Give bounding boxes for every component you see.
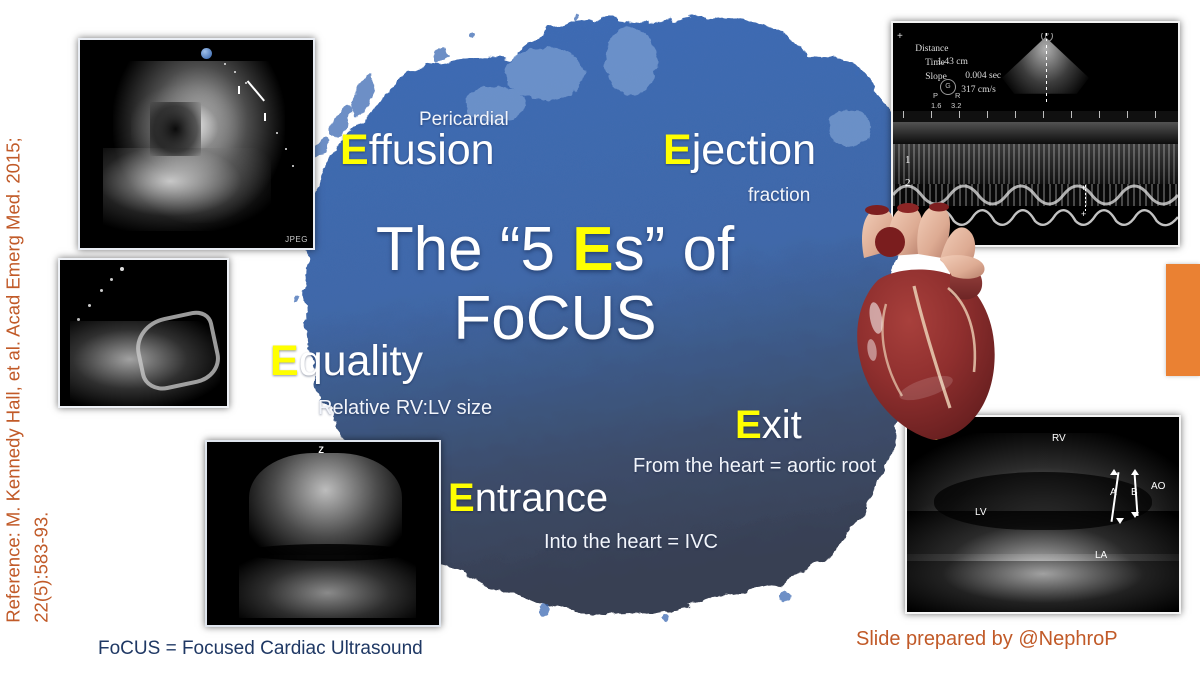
mmode-depth-ruler [893,111,1178,122]
orange-accent-bar [1166,264,1200,376]
caliper-plus-icon: + [897,31,903,42]
page-title: The “5 Es” of FoCUS [305,215,805,354]
caption-exit: From the heart = aortic root [633,456,876,476]
mmode-trace-number-2: 2 [905,177,911,189]
mmode-reference-sector: P [998,33,1093,105]
reference-citation: Reference: M. Kennedy Hall, et al. Acad … [0,3,55,623]
probe-label-left: P [933,91,938,100]
echo-ivc-subcostal: Z [205,440,441,627]
ejection-rest: jection [692,126,816,174]
label-exit: Exit [735,405,802,445]
caption-pericardial: Pericardial [419,110,509,129]
probe-value-right: 3.2 [951,101,961,110]
focus-acronym-legend: FoCUS = Focused Cardiac Ultrasound [98,638,423,660]
caption-equality: Relative RV:LV size [318,398,492,418]
probe-orientation-icon: G [940,79,956,95]
title-part-2: s” of [614,215,735,284]
plax-label-la: LA [1095,550,1107,561]
plax-label-ao: AO [1151,481,1165,492]
mmode-trace-number-1: 1 [905,154,911,166]
reference-line-2: 22(5):583-93. [27,3,55,623]
effusion-initial: E [340,126,369,174]
effusion-rest: ffusion [369,126,495,174]
mmode-slope-value: 317 cm/s [961,85,996,95]
jpeg-watermark: JPEG [285,235,308,244]
slide-credit: Slide prepared by @NephroP [856,628,1118,651]
title-highlight-e: E [572,215,613,284]
heart-illustration [822,200,1027,445]
title-part-3: FoCUS [453,284,656,353]
plax-label-lv: LV [975,507,987,518]
entrance-rest: ntrance [475,476,608,520]
label-entrance: Entrance [448,478,608,518]
label-ejection: Ejection [663,129,816,172]
entrance-initial: E [448,476,475,520]
ivc-z-marker: Z [318,445,324,455]
slide-canvas: Effusion Pericardial Ejection fraction E… [0,0,1200,675]
probe-value-left: 1.6 [931,101,941,110]
probe-label-right: R [955,91,960,100]
plax-label-rv: RV [1052,433,1066,444]
caption-fraction: fraction [748,186,810,205]
title-part-1: The “5 [376,215,572,284]
equality-initial: E [270,337,299,385]
exit-initial: E [735,403,762,447]
ejection-initial: E [663,126,692,174]
reference-line-1: Reference: M. Kennedy Hall, et al. Acad … [2,137,23,622]
exit-rest: xit [762,403,802,447]
echo-parasternal-short-axis [58,258,229,408]
echo-apical-four-chamber: JPEG [78,38,315,250]
caption-entrance: Into the heart = IVC [544,532,718,552]
label-effusion: Effusion [340,129,495,172]
